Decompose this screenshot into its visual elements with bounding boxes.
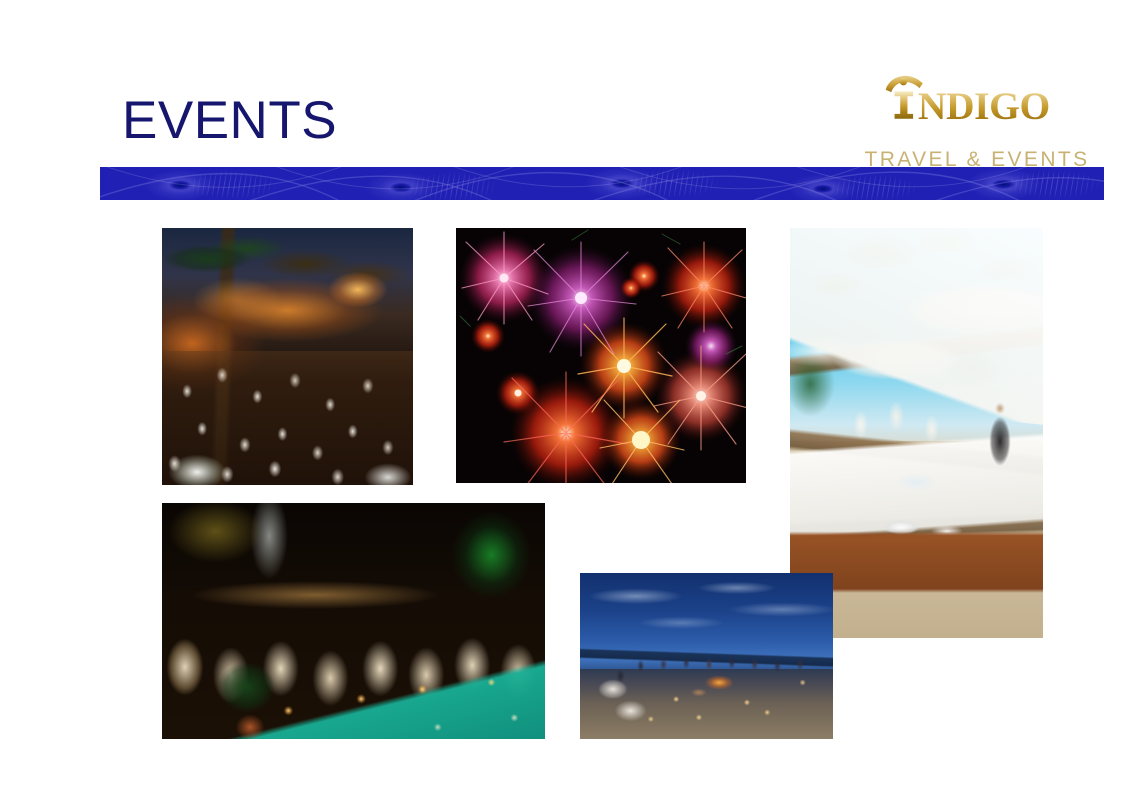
flower-arrangement-layer xyxy=(162,228,413,485)
bonfire-candles-layer xyxy=(580,573,833,739)
photo-beach-bonfire[interactable] xyxy=(580,573,833,739)
photo-white-party[interactable] xyxy=(162,228,413,485)
indigo-wordmark-icon: NDIGO xyxy=(862,72,1090,122)
page-title: EVENTS xyxy=(122,92,337,150)
company-logo[interactable]: NDIGO TRAVEL & EVENTS xyxy=(862,44,1090,136)
logo-tagline: TRAVEL & EVENTS xyxy=(864,148,1090,172)
potted-plant-layer xyxy=(162,503,545,739)
photo-fireworks[interactable] xyxy=(456,228,746,483)
presentation-slide: EVENTS xyxy=(0,0,1141,812)
fireworks-bursts-icon xyxy=(456,228,746,483)
photo-pool-gala[interactable] xyxy=(162,503,545,739)
svg-text:NDIGO: NDIGO xyxy=(918,84,1050,122)
